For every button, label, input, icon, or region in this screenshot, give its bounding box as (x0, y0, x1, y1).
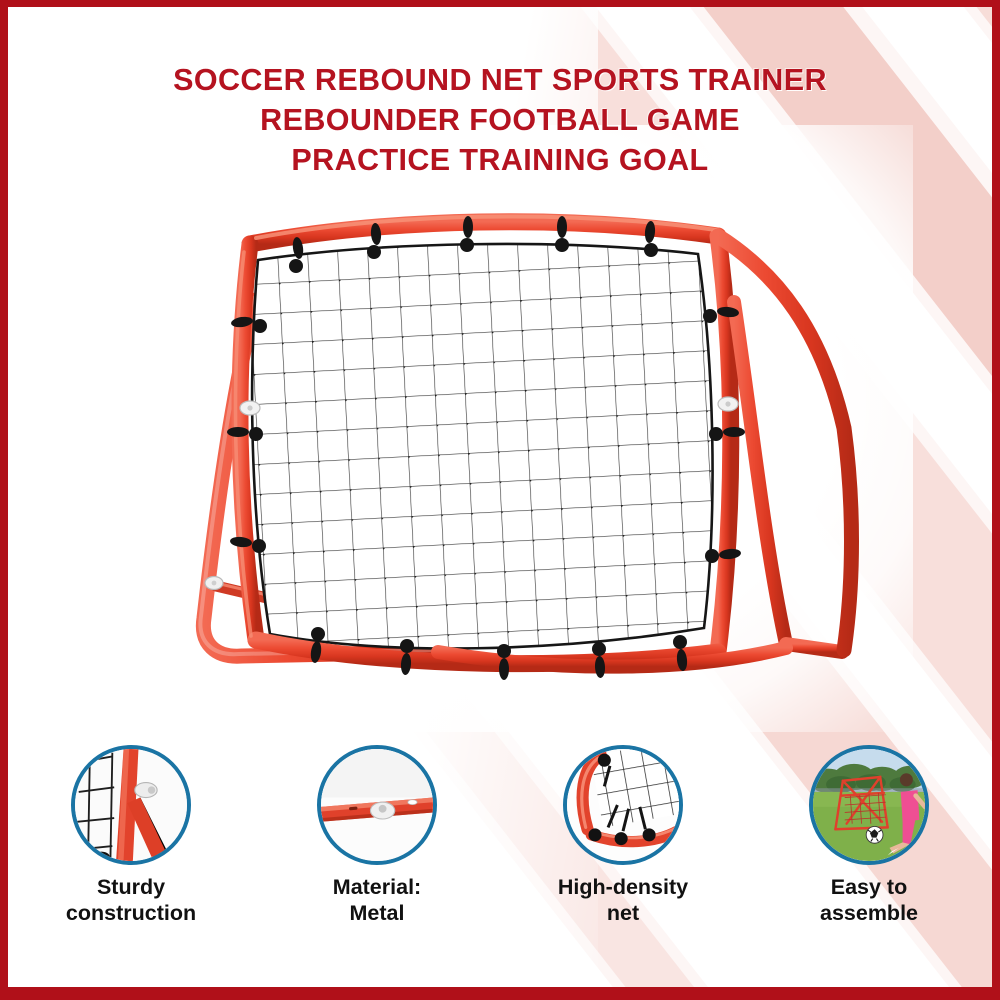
page-title: Soccer Rebound Net Sports Trainer Reboun… (8, 60, 992, 180)
feature-material-metal[interactable]: Material: Metal (267, 745, 487, 926)
feature-thumb-metal-bar (317, 745, 437, 865)
feature-thumb-lifestyle (809, 745, 929, 865)
feature-sturdy-construction[interactable]: Sturdy construction (21, 745, 241, 926)
soccer-ball-icon (866, 826, 883, 843)
feature-row: Sturdy construction (8, 745, 992, 965)
feature-label: High-density net (558, 874, 688, 926)
feature-high-density-net[interactable]: High-density net (513, 745, 733, 926)
feature-label: Material: Metal (333, 874, 421, 926)
feature-thumb-frame-clamp (71, 745, 191, 865)
feature-thumb-net-corner (563, 745, 683, 865)
feature-easy-to-assemble[interactable]: Easy to assemble (759, 745, 979, 926)
feature-label: Easy to assemble (820, 874, 918, 926)
feature-label: Sturdy construction (66, 874, 196, 926)
rebound-net-mesh (216, 209, 759, 696)
product-listing-image: Soccer Rebound Net Sports Trainer Reboun… (0, 0, 1000, 1000)
hero-product-image (138, 182, 898, 742)
